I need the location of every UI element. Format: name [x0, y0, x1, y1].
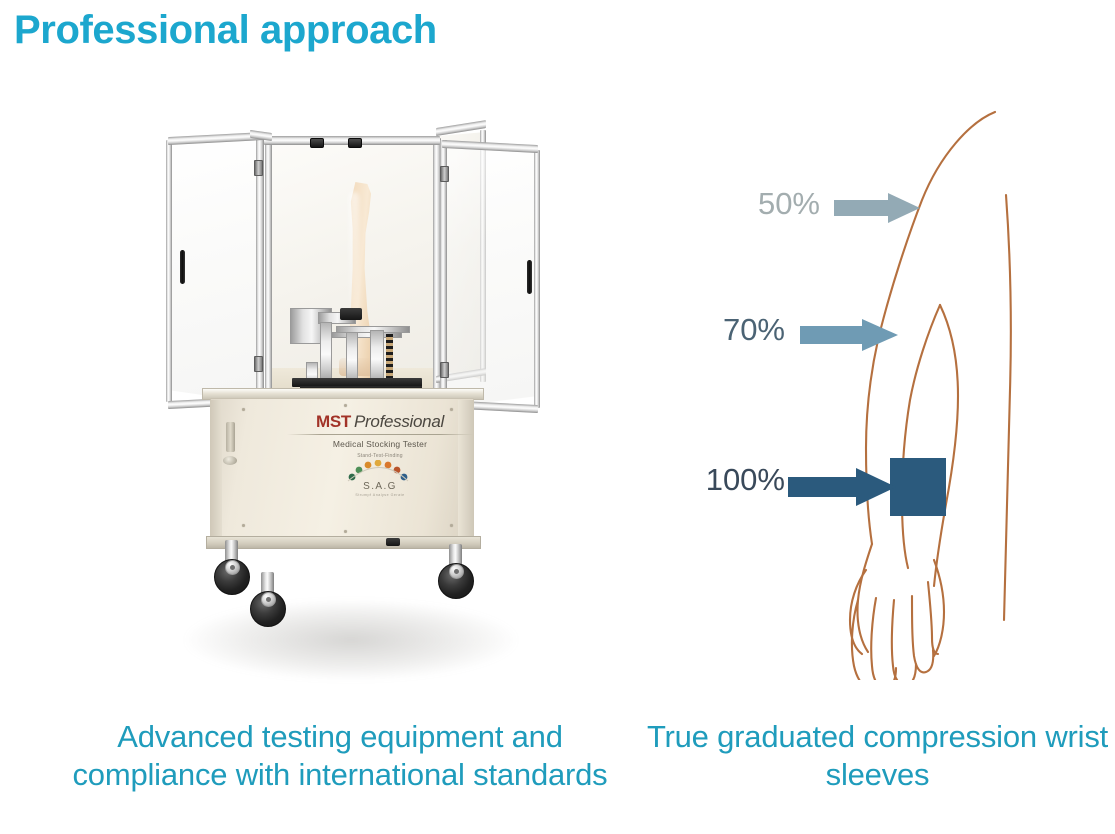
compression-arrow-100-icon — [788, 468, 898, 506]
sag-logo-tagline: Strumpf Analyse Gerate — [328, 493, 432, 497]
caption-left: Advanced testing equipment and complianc… — [60, 718, 620, 794]
caster-front-right — [438, 544, 474, 599]
caster-wheel — [438, 563, 474, 599]
floor-shadow — [186, 600, 516, 680]
sag-logo: S.A.G Strumpf Analyse Gerate — [328, 460, 432, 504]
base-screw — [242, 524, 245, 527]
sag-logo-text: S.A.G — [328, 481, 432, 492]
compression-arrow-70-icon — [800, 319, 900, 351]
base-screw — [344, 530, 347, 533]
machine-subtitle: Medical Stocking Tester — [280, 438, 480, 450]
caster-front-left-outer — [250, 572, 286, 627]
apparatus-column — [320, 322, 332, 384]
door-right-outer-frame — [534, 150, 540, 408]
top-latch-knob-right[interactable] — [348, 138, 362, 148]
caster-wheel — [250, 591, 286, 627]
caption-right: True graduated compression wrist sleeves — [640, 718, 1115, 794]
wrist-compression-band — [890, 458, 946, 516]
base-screw — [450, 408, 453, 411]
caster-front-left — [214, 540, 250, 595]
hinge-right-upper — [440, 166, 449, 182]
top-latch-knob-left[interactable] — [310, 138, 324, 148]
brand-mst: MST — [316, 412, 351, 431]
panel-lock[interactable] — [223, 456, 237, 465]
arrow-shaft — [834, 200, 890, 216]
hinge-left-upper — [254, 160, 263, 176]
door-left-outer-frame — [166, 140, 172, 402]
door-handle-left-icon[interactable] — [180, 250, 185, 284]
compression-diagram: 50% 70% 100% — [640, 100, 1115, 680]
brand-line: MSTProfessional — [280, 412, 480, 432]
caster-rear-shadow — [386, 538, 400, 546]
arrow-shaft — [788, 477, 858, 497]
caster-hub — [225, 560, 240, 575]
brand-professional: Professional — [354, 412, 444, 431]
arrow-head — [856, 468, 896, 506]
label-divider — [287, 434, 473, 435]
base-left-edge — [210, 400, 222, 538]
base-screw — [242, 408, 245, 411]
base-screw — [450, 524, 453, 527]
compression-label-50: 50% — [730, 187, 820, 221]
base-screw — [344, 404, 347, 407]
arrow-head — [888, 193, 920, 223]
hinge-left-lower — [254, 356, 263, 372]
slide-root: Professional approach — [0, 0, 1115, 834]
apparatus-sensor-head — [340, 308, 362, 320]
sag-logo-dots-icon — [328, 460, 432, 482]
caster-wheel — [214, 559, 250, 595]
frame-post-front-left — [265, 142, 272, 396]
page-title: Professional approach — [14, 4, 437, 56]
arm-line-drawing-icon — [640, 100, 1115, 680]
arrow-shaft — [800, 326, 864, 344]
caster-hub — [449, 564, 464, 579]
arrow-head — [862, 319, 898, 351]
machine-photo: MSTProfessional Medical Stocking Tester … — [150, 100, 550, 680]
hinge-right-lower — [440, 362, 449, 378]
cabinet-door-right[interactable] — [442, 140, 538, 408]
panel-latch[interactable] — [226, 422, 235, 452]
caster-hub — [261, 592, 276, 607]
compression-label-100: 100% — [660, 463, 785, 497]
machine-front-label: MSTProfessional Medical Stocking Tester … — [280, 412, 480, 461]
compression-label-70: 70% — [695, 313, 785, 347]
door-handle-right-icon[interactable] — [527, 260, 532, 294]
compression-arrow-50-icon — [834, 193, 920, 223]
